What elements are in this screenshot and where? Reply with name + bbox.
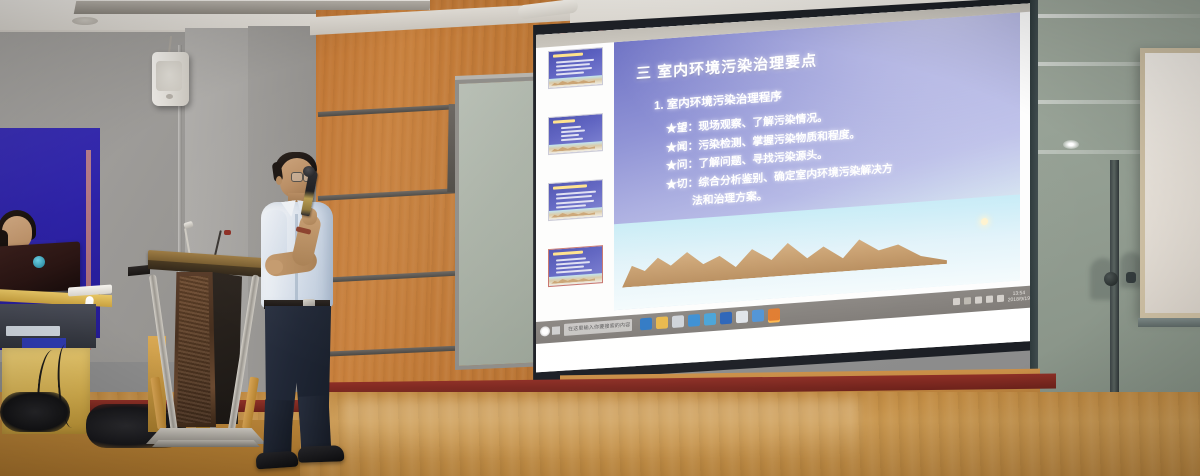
lectern-base-foot	[152, 440, 260, 447]
presenter-shoe-right	[298, 445, 345, 463]
presenter-ear	[276, 176, 282, 185]
slide-subtitle: 1. 室内环境污染治理程序	[654, 88, 782, 113]
thumbnail-line	[556, 269, 592, 273]
slide-thumbnail-selected[interactable]	[548, 245, 603, 287]
slide-thumbnail[interactable]	[548, 179, 603, 221]
thumbnail-title-bar	[553, 251, 583, 256]
thumbnail-line	[561, 129, 585, 132]
presenter-shoe-left	[255, 451, 298, 470]
task-view-icon[interactable]	[552, 326, 560, 335]
lectern-notes	[128, 265, 150, 276]
thumbnail-line	[556, 257, 586, 261]
projection-screen[interactable]: 三 室内环境污染治理要点 1. 室内环境污染治理程序 ★望：现场观察、了解污染情…	[536, 0, 1046, 380]
thumbnail-mountain-graphic	[549, 141, 602, 154]
thumbnail-line	[556, 200, 594, 204]
laptop-logo-icon	[33, 256, 45, 268]
taskbar-clock[interactable]: 13:54 2018/9/19	[1008, 290, 1030, 304]
thumbnail-line	[561, 126, 581, 129]
thumbnail-line	[556, 265, 584, 269]
gooseneck-microphone-indicator	[224, 230, 231, 235]
presenter	[248, 152, 360, 472]
file-explorer-icon[interactable]	[656, 316, 668, 329]
thumbnail-mountain-graphic	[549, 75, 602, 88]
desk-shelf	[0, 304, 96, 348]
ceiling-downlight	[72, 17, 98, 25]
slide-thumbnail[interactable]	[548, 47, 603, 89]
slide-sun-icon	[981, 218, 988, 226]
powerpoint-icon[interactable]	[768, 308, 780, 321]
glass-reflection	[1038, 14, 1200, 18]
slide-title: 三 室内环境污染治理要点	[636, 49, 817, 83]
thumbnail-title-bar	[553, 119, 575, 123]
whiteboard-bracket	[1126, 272, 1136, 283]
presenter-hand-left	[266, 260, 283, 274]
tray-volume-icon[interactable]	[986, 295, 993, 303]
thumbnail-line	[556, 71, 584, 75]
tray-action-center-icon[interactable]	[953, 298, 960, 306]
mail-icon[interactable]	[688, 314, 700, 327]
slide-thumbnail-panel[interactable]	[542, 41, 606, 314]
word-icon[interactable]	[720, 312, 732, 325]
system-tray[interactable]: 13:54 2018/9/19	[953, 289, 1040, 308]
clock-date: 2018/9/19	[1008, 296, 1030, 304]
tray-chevron-up-icon[interactable]	[964, 297, 971, 305]
active-slide[interactable]: 三 室内环境污染治理要点 1. 室内环境污染治理程序 ★望：现场观察、了解污染情…	[614, 12, 1020, 310]
thumbnail-line	[556, 204, 586, 208]
thumbnail-mountain-graphic	[549, 207, 602, 220]
thumbnail-title-bar	[553, 184, 587, 189]
gooseneck-microphone-capsule	[183, 221, 193, 229]
edge-icon[interactable]	[640, 317, 652, 330]
floor-highlight	[340, 400, 860, 460]
lectern-front-inlay	[177, 276, 211, 423]
whiteboard-marker-tray	[1138, 318, 1200, 327]
thumbnail-line	[556, 261, 590, 265]
slide-bullet-list: ★望：现场观察、了解污染情况。 ★闻：污染检测、掌握污染物质和程度。 ★问：了解…	[666, 95, 1006, 213]
equipment-pile-left	[0, 392, 70, 432]
thumbnail-line	[556, 67, 592, 71]
media-icon[interactable]	[704, 313, 716, 326]
thumbnail-line	[561, 134, 579, 137]
windows-desktop: 三 室内环境污染治理要点 1. 室内环境污染治理程序 ★望：现场观察、了解污染情…	[536, 0, 1046, 380]
thumbnail-mountain-graphic	[549, 273, 602, 286]
whiteboard[interactable]	[1140, 48, 1200, 318]
speaker-tweeter	[166, 94, 173, 99]
browser-icon[interactable]	[752, 309, 764, 322]
thumbnail-title-bar	[553, 53, 583, 58]
tray-network-icon[interactable]	[975, 296, 982, 304]
slide-thumbnail[interactable]	[548, 113, 603, 155]
whiteboard-adjust-knob[interactable]	[1104, 272, 1118, 286]
thumbnail-line	[561, 138, 583, 141]
excel-icon[interactable]	[736, 310, 748, 323]
wall-speaker-icon	[152, 52, 189, 106]
thumbnail-line	[556, 195, 592, 199]
start-button-icon[interactable]	[540, 326, 550, 337]
lecture-hall-photo: 三 室内环境污染治理要点 1. 室内环境污染治理程序 ★望：现场观察、了解污染情…	[0, 0, 1200, 476]
store-icon[interactable]	[672, 315, 684, 328]
tray-ime-icon[interactable]	[997, 294, 1004, 302]
desk-shelf-item	[6, 326, 60, 336]
speaker-grille	[156, 61, 182, 91]
glass-light-reflection	[1063, 140, 1079, 149]
